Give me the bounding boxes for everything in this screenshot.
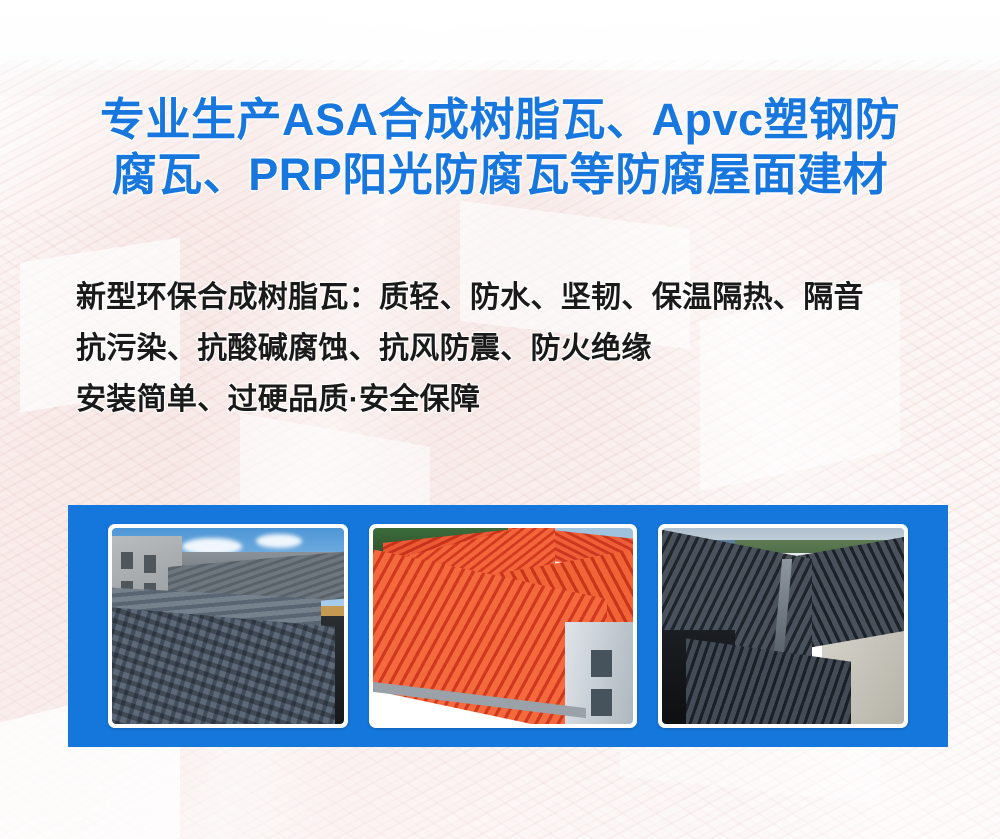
product-gallery: [68, 505, 948, 747]
photo-red-resin-tile-roof: [373, 528, 633, 724]
feature-list: 新型环保合成树脂瓦：质轻、防水、坚韧、保温隔热、隔音 抗污染、抗酸碱腐蚀、抗风防…: [76, 272, 864, 425]
window: [591, 650, 612, 677]
gallery-photo-2[interactable]: [369, 524, 637, 728]
grey-tile-surface: [112, 606, 335, 724]
feature-line-1: 新型环保合成树脂瓦：质轻、防水、坚韧、保温隔热、隔音: [76, 272, 864, 323]
photo-black-resin-tile-roof: [662, 528, 904, 724]
gallery-photo-3[interactable]: [658, 524, 908, 728]
feature-line-2: 抗污染、抗酸碱腐蚀、抗风防震、防火绝缘: [76, 323, 864, 374]
cloud: [256, 534, 302, 548]
gallery-photo-1[interactable]: [108, 524, 348, 728]
photo-grey-resin-tile-roof: [112, 528, 344, 724]
window: [121, 552, 133, 570]
feature-line-3: 安装简单、过硬品质·安全保障: [76, 374, 864, 425]
window: [144, 555, 156, 573]
window: [591, 689, 612, 716]
page-title: 专业生产ASA合成树脂瓦、Apvc塑钢防 腐瓦、PRP阳光防腐瓦等防腐屋面建材: [0, 92, 1000, 202]
